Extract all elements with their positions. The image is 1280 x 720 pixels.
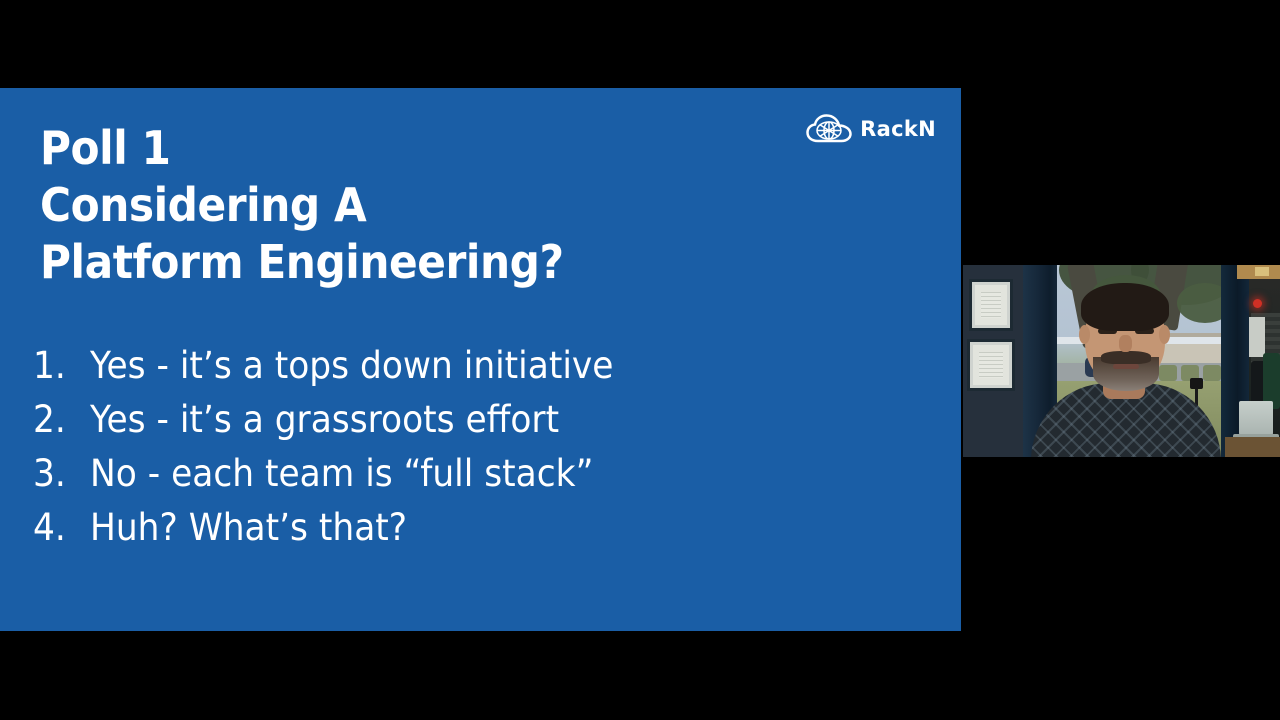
- list-item-number: 2.: [33, 397, 86, 443]
- hedge: [1159, 365, 1177, 381]
- list-item: 4. Huh? What’s that?: [33, 505, 913, 559]
- list-item-label: No - each team is “full stack”: [90, 451, 593, 497]
- rackn-brand-text: RackN: [860, 117, 936, 141]
- presenter-ear: [1079, 325, 1090, 344]
- list-item-number: 4.: [33, 505, 86, 551]
- presenter-nose: [1119, 335, 1132, 352]
- rackn-brand-logo: RackN: [806, 114, 936, 144]
- slide-title-line-2: Considering A: [40, 177, 629, 234]
- list-item-label: Huh? What’s that?: [90, 505, 407, 551]
- list-item: 3. No - each team is “full stack”: [33, 451, 913, 505]
- presenter-mustache: [1101, 351, 1151, 364]
- red-indicator-light-icon: [1253, 299, 1262, 308]
- video-call-screen: RackN Poll 1 Considering A Platform Engi…: [0, 0, 1280, 720]
- presenter-ear: [1159, 325, 1170, 344]
- hedge: [1203, 365, 1221, 381]
- presenter-hair: [1081, 283, 1169, 331]
- slide-title-line-3: Platform Engineering?: [40, 234, 629, 291]
- storage-box: [1255, 267, 1269, 276]
- desk: [1225, 437, 1280, 457]
- list-item-label: Yes - it’s a tops down initiative: [90, 343, 613, 389]
- whiteboard: [1249, 317, 1265, 357]
- rackn-cloud-mesh-icon: [806, 114, 852, 144]
- list-item-number: 1.: [33, 343, 86, 389]
- poll-answer-list: 1. Yes - it’s a tops down initiative 2. …: [33, 343, 913, 559]
- framed-picture: [967, 339, 1015, 391]
- presenter-video-tile[interactable]: [963, 265, 1280, 457]
- list-item-number: 3.: [33, 451, 86, 497]
- webcam-scene: [963, 265, 1280, 457]
- list-item: 1. Yes - it’s a tops down initiative: [33, 343, 913, 397]
- laptop: [1239, 401, 1273, 435]
- list-item: 2. Yes - it’s a grassroots effort: [33, 397, 913, 451]
- presenter-mouth: [1113, 364, 1139, 369]
- list-item-label: Yes - it’s a grassroots effort: [90, 397, 559, 443]
- slide-title-line-1: Poll 1: [40, 120, 629, 177]
- slide-title: Poll 1 Considering A Platform Engineerin…: [40, 120, 680, 291]
- framed-picture: [969, 279, 1013, 331]
- presentation-slide: RackN Poll 1 Considering A Platform Engi…: [0, 88, 961, 631]
